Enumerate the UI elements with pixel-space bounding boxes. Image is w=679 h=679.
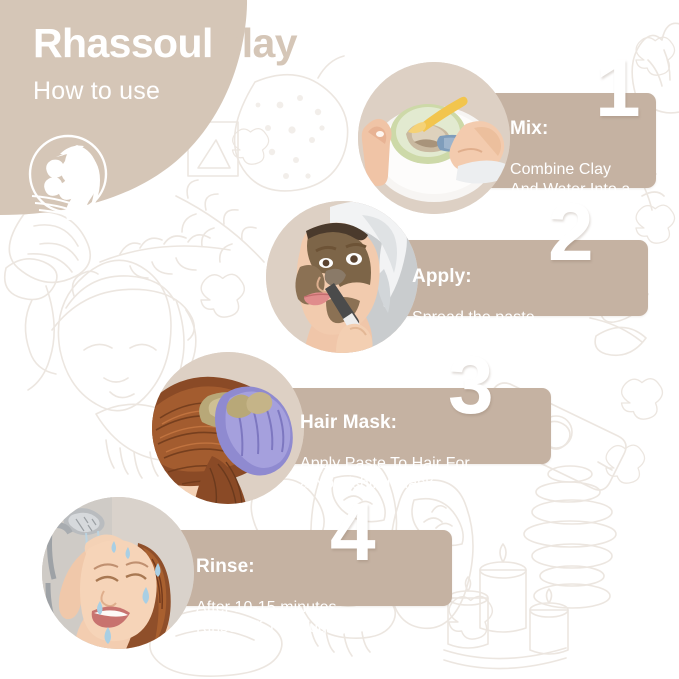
half-lemon-motif — [9, 212, 90, 283]
title-word-rhassoul: Rhassoul — [33, 20, 213, 66]
step-1-photo — [358, 62, 510, 214]
infographic-poster: RhassoulClay How to use — [0, 0, 679, 679]
page-subtitle: How to use — [33, 77, 160, 106]
step-3-photo — [152, 352, 304, 504]
step-2-body: Spread the paste evenly over your face. — [412, 308, 642, 347]
step-2-heading: Apply: — [412, 265, 642, 288]
step-4-heading: Rinse: — [196, 555, 446, 578]
wheat-branch-motif — [100, 235, 230, 278]
step-2-number: 2 — [548, 192, 594, 274]
candles-motif — [444, 544, 568, 669]
step-3-number: 3 — [448, 345, 494, 427]
title-word-clay: Clay — [213, 20, 297, 66]
brand-logo-icon — [22, 128, 114, 220]
step-4-photo — [42, 497, 194, 649]
step-4-body: After 10-15 minutes, Rinse Off Thoroughl… — [196, 598, 446, 637]
step-2-photo — [266, 201, 418, 353]
step-2-text: Apply: Spread the paste evenly over your… — [412, 245, 642, 367]
soap-motif — [5, 259, 57, 300]
page-title: RhassoulClay — [33, 20, 297, 67]
step-1-number: 1 — [595, 48, 641, 130]
step-4-number: 4 — [330, 492, 376, 574]
step-4-text: Rinse: After 10-15 minutes, Rinse Off Th… — [196, 535, 446, 657]
step-3-heading: Hair Mask: — [300, 411, 550, 434]
